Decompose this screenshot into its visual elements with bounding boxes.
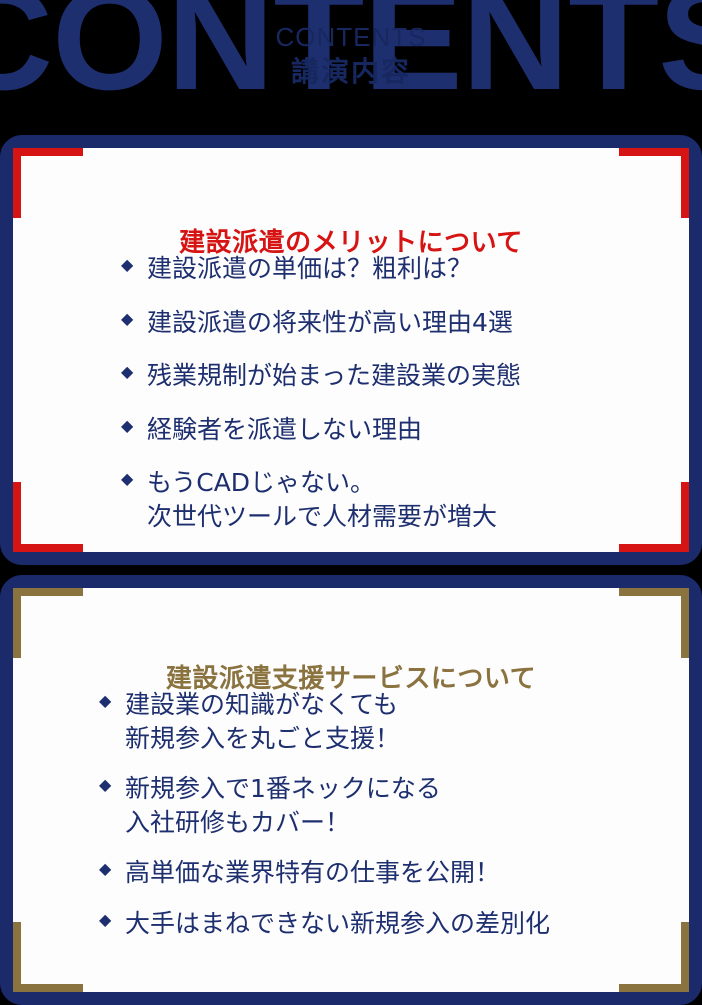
list-item: ◆ 新規参入で1番ネックになる 入社研修もカバー！ — [99, 772, 550, 839]
list-item-label: 高単価な業界特有の仕事を公開！ — [125, 856, 550, 890]
corner-bracket-bottom-left-icon — [13, 922, 83, 992]
diamond-bullet-icon: ◆ — [121, 415, 147, 436]
hero-overlay-text: CONTENTS 講演内容 — [0, 22, 702, 88]
support-list: ◆ 建設業の知識がなくても 新規参入を丸ごと支援！ ◆ 新規参入で1番ネックにな… — [99, 688, 550, 957]
card-inner: 建設派遣支援サービスについて ◆ 建設業の知識がなくても 新規参入を丸ごと支援！… — [13, 588, 689, 992]
diamond-bullet-icon: ◆ — [99, 774, 125, 795]
corner-bracket-top-left-icon — [13, 148, 83, 218]
list-item: ◆ 残業規制が始まった建設業の実態 — [121, 359, 521, 393]
diamond-bullet-icon: ◆ — [99, 690, 125, 711]
list-item: ◆ 建設業の知識がなくても 新規参入を丸ごと支援！ — [99, 688, 550, 755]
list-item-label: 経験者を派遣しない理由 — [147, 413, 521, 447]
corner-bracket-top-right-icon — [619, 148, 689, 218]
corner-bracket-bottom-right-icon — [619, 922, 689, 992]
list-item-label: もうCADじゃない。 次世代ツールで人材需要が増大 — [147, 466, 521, 533]
corner-bracket-bottom-right-icon — [619, 482, 689, 552]
content-card-support: 建設派遣支援サービスについて ◆ 建設業の知識がなくても 新規参入を丸ごと支援！… — [0, 575, 702, 1005]
diamond-bullet-icon: ◆ — [121, 254, 147, 275]
corner-bracket-top-left-icon — [13, 588, 83, 658]
list-item-label: 残業規制が始まった建設業の実態 — [147, 359, 521, 393]
diamond-bullet-icon: ◆ — [121, 308, 147, 329]
list-item: ◆ 高単価な業界特有の仕事を公開！ — [99, 856, 550, 890]
list-item-label: 新規参入で1番ネックになる 入社研修もカバー！ — [125, 772, 550, 839]
diamond-bullet-icon: ◆ — [99, 909, 125, 930]
list-item-label: 大手はまねできない新規参入の差別化 — [125, 907, 550, 941]
list-item-label: 建設業の知識がなくても 新規参入を丸ごと支援！ — [125, 688, 550, 755]
hero-subtitle-en: CONTENTS — [0, 22, 702, 53]
hero-banner: CONTENTS CONTENTS 講演内容 — [0, 0, 702, 135]
content-card-merits: 建設派遣のメリットについて ◆ 建設派遣の単価は？粗利は？ ◆ 建設派遣の将来性… — [0, 135, 702, 565]
diamond-bullet-icon: ◆ — [121, 361, 147, 382]
merits-list: ◆ 建設派遣の単価は？粗利は？ ◆ 建設派遣の将来性が高い理由4選 ◆ 残業規制… — [121, 252, 521, 553]
list-item: ◆ 建設派遣の単価は？粗利は？ — [121, 252, 521, 286]
list-item: ◆ もうCADじゃない。 次世代ツールで人材需要が増大 — [121, 466, 521, 533]
hero-subtitle-ja: 講演内容 — [0, 55, 702, 88]
corner-bracket-top-right-icon — [619, 588, 689, 658]
list-item: ◆ 大手はまねできない新規参入の差別化 — [99, 907, 550, 941]
corner-bracket-bottom-left-icon — [13, 482, 83, 552]
list-item: ◆ 建設派遣の将来性が高い理由4選 — [121, 306, 521, 340]
card-inner: 建設派遣のメリットについて ◆ 建設派遣の単価は？粗利は？ ◆ 建設派遣の将来性… — [13, 148, 689, 552]
diamond-bullet-icon: ◆ — [99, 858, 125, 879]
diamond-bullet-icon: ◆ — [121, 468, 147, 489]
list-item: ◆ 経験者を派遣しない理由 — [121, 413, 521, 447]
list-item-label: 建設派遣の将来性が高い理由4選 — [147, 306, 521, 340]
list-item-label: 建設派遣の単価は？粗利は？ — [147, 252, 521, 286]
